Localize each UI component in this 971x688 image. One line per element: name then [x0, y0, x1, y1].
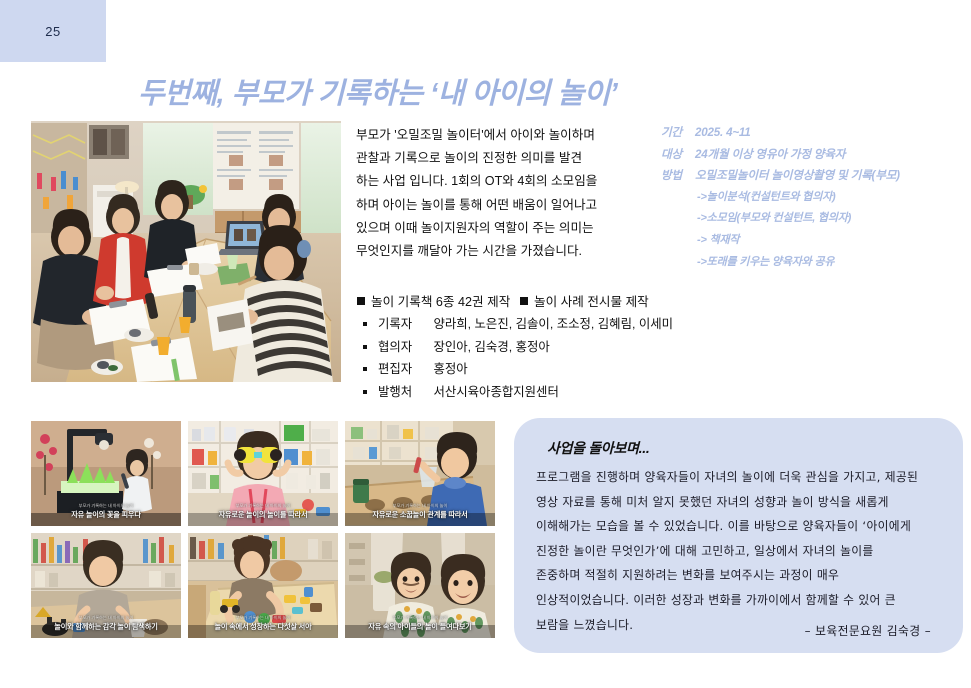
photo-caption-text-2: 자유로운 놀이의 놀이를 따라서 [219, 510, 308, 519]
page-title: 두번째, 부모가 기록하는 ‘내 아이의 놀이’ [138, 70, 838, 110]
photo-cell-2: 부모가 기록하는 내 아이의 놀이 자유로운 놀이의 놀이를 따라서 [188, 421, 338, 526]
info-label-target: 대상 [661, 144, 692, 166]
photo-caption-1: 부모가 기록하는 내 아이의 놀이 자유 놀이의 꽃을 피우다 [31, 503, 181, 520]
info-row-target: 대상 24개월 이상 영유아 가정 양육자 [661, 144, 966, 166]
photo-caption-5: 부모가 기록하는 내 아이의 놀이 놀이 속에서 성장하는 다섯살 서아 [188, 615, 338, 632]
page-number-badge: 25 [0, 0, 106, 62]
bullet-icon [363, 345, 367, 349]
photo-caption-tiny-5: 부모가 기록하는 내 아이의 놀이 [188, 615, 338, 621]
intro-line: 부모가 '오밀조밀 놀이터'에서 아이와 놀이하며 [356, 124, 651, 147]
photo-caption-tiny-6: 부모가 기록하는 내 아이의 놀이 [345, 615, 495, 621]
credit-names: 서산시육아종합지원센터 [433, 385, 558, 399]
photo-caption-text-3: 자유로운 소꿉놀이 관계를 따라서 [372, 510, 467, 519]
intro-paragraph: 부모가 '오밀조밀 놀이터'에서 아이와 놀이하며 관찰과 기록으로 놀이의 진… [356, 124, 651, 263]
section-headers: 놀이 기록책 6종 42권 제작 놀이 사례 전시물 제작 [357, 291, 787, 309]
photo-caption-text-6: 자유 속의 아이들의 놀이 들여다보기 [368, 622, 471, 631]
intro-line: 하는 사업 입니다. 1회의 OT와 4회의 소모임을 [356, 170, 651, 193]
list-item: 기록자 양라희, 노은진, 김솔이, 조소정, 김혜림, 이세미 [360, 313, 780, 336]
info-step: ->소모임(부모와 컨설턴트, 협의자) [661, 208, 966, 230]
info-step: ->또래를 키우는 양육자와 공유 [661, 252, 966, 274]
photo-caption-2: 부모가 기록하는 내 아이의 놀이 자유로운 놀이의 놀이를 따라서 [188, 503, 338, 520]
photo-cell-1: 부모가 기록하는 내 아이의 놀이 자유 놀이의 꽃을 피우다 [31, 421, 181, 526]
info-value-target: 24개월 이상 영유아 가정 양육자 [695, 148, 845, 161]
info-label-method: 방법 [661, 165, 692, 187]
intro-line: 있으며 이때 놀이지원자의 역할이 주는 의미는 [356, 217, 651, 240]
square-bullet-icon [357, 297, 365, 305]
photo-cell-6: 부모가 기록하는 내 아이의 놀이 자유 속의 아이들의 놀이 들여다보기 [345, 533, 495, 638]
reflection-line: 프로그램을 진행하며 양육자들이 자녀의 놀이에 더욱 관심을 가지고, 제공된 [536, 465, 941, 490]
section-header-left-label: 놀이 기록책 6종 42권 제작 [371, 295, 510, 309]
info-step: -> 책재작 [661, 230, 966, 252]
photo-caption-tiny-1: 부모가 기록하는 내 아이의 놀이 [31, 503, 181, 509]
photo-caption-text-1: 자유 놀이의 꽃을 피우다 [71, 510, 141, 519]
reflection-line: 진정한 놀이란 무엇인가’에 대해 고민하고, 일상에서 자녀의 놀이를 [536, 539, 941, 564]
reflection-line: 영상 자료를 통해 미처 알지 못했던 자녀의 성향과 놀이 방식을 새롭게 [536, 490, 941, 515]
reflection-line: 존중하며 적절히 지원하려는 변화를 보여주시는 과정이 매우 [536, 563, 941, 588]
bullet-icon [363, 390, 367, 394]
list-item: 협의자 장인아, 김숙경, 홍정아 [360, 336, 780, 359]
credits-list: 기록자 양라희, 노은진, 김솔이, 조소정, 김혜림, 이세미 협의자 장인아… [360, 313, 780, 403]
info-value-period: 2025. 4~11 [695, 126, 751, 139]
reflection-box: 사업을 돌아보며... 프로그램을 진행하며 양육자들이 자녀의 놀이에 더욱 … [514, 418, 963, 653]
intro-line: 무엇인지를 깨달아 가는 시간을 가졌습니다. [356, 240, 651, 263]
intro-line: 관찰과 기록으로 놀이의 진정한 의미를 발견 [356, 147, 651, 170]
photo-caption-6: 부모가 기록하는 내 아이의 놀이 자유 속의 아이들의 놀이 들여다보기 [345, 615, 495, 632]
photo-caption-tiny-4: 부모가 기록하는 내 아이의 놀이 [31, 615, 181, 621]
info-step: ->놀이분석(컨설턴트와 협의자) [661, 187, 966, 209]
section-header-record-book: 놀이 기록책 6종 42권 제작 [357, 291, 510, 310]
photo-caption-text-4: 놀이와 함께하는 감각 놀이 탐색하기 [54, 622, 157, 631]
reflection-body: 프로그램을 진행하며 양육자들이 자녀의 놀이에 더욱 관심을 가지고, 제공된… [536, 465, 941, 637]
main-photo-meeting [31, 121, 341, 382]
credit-role: 편집자 [378, 358, 430, 381]
credit-role: 발행처 [378, 381, 430, 404]
reflection-line: 이해해가는 모습을 볼 수 있었습니다. 이를 바탕으로 양육자들이 ‘아이에게 [536, 514, 941, 539]
square-bullet-icon [520, 297, 528, 305]
credit-role: 기록자 [378, 313, 430, 336]
reflection-heading: 사업을 돌아보며... [547, 438, 649, 458]
info-row-period: 기간 2025. 4~11 [661, 122, 966, 144]
photo-cell-4: 부모가 기록하는 내 아이의 놀이 놀이와 함께하는 감각 놀이 탐색하기 [31, 533, 181, 638]
intro-line: 하며 아이는 놀이를 통해 어떤 배움이 일어나고 [356, 194, 651, 217]
program-info-block: 기간 2025. 4~11 대상 24개월 이상 영유아 가정 양육자 방법 오… [661, 122, 966, 273]
credit-role: 협의자 [378, 336, 430, 359]
photo-cell-5: 부모가 기록하는 내 아이의 놀이 놀이 속에서 성장하는 다섯살 서아 [188, 533, 338, 638]
credit-names: 장인아, 김숙경, 홍정아 [433, 340, 549, 354]
reflection-line: 인상적이었습니다. 이러한 성장과 변화를 가까이에서 함께할 수 있어 큰 [536, 588, 941, 613]
list-item: 편집자 홍정아 [360, 358, 780, 381]
info-label-period: 기간 [661, 122, 692, 144]
photo-cell-3: 부모가 기록하는 내 아이의 놀이 자유로운 소꿉놀이 관계를 따라서 [345, 421, 495, 526]
photo-caption-3: 부모가 기록하는 내 아이의 놀이 자유로운 소꿉놀이 관계를 따라서 [345, 503, 495, 520]
photo-grid: 부모가 기록하는 내 아이의 놀이 자유 놀이의 꽃을 피우다 [31, 421, 495, 648]
photo-caption-text-5: 놀이 속에서 성장하는 다섯살 서아 [215, 622, 312, 631]
page-number: 25 [45, 24, 60, 39]
reflection-signature: – 보육전문요원 김숙경 – [805, 622, 931, 639]
section-header-right-label: 놀이 사례 전시물 제작 [534, 295, 649, 309]
info-value-method: 오밀조밀놀이터 놀이영상촬영 및 기록(부모) [695, 169, 900, 182]
photo-caption-tiny-2: 부모가 기록하는 내 아이의 놀이 [188, 503, 338, 509]
photo-caption-4: 부모가 기록하는 내 아이의 놀이 놀이와 함께하는 감각 놀이 탐색하기 [31, 615, 181, 632]
info-row-method: 방법 오밀조밀놀이터 놀이영상촬영 및 기록(부모) [661, 165, 966, 187]
section-header-exhibit: 놀이 사례 전시물 제작 [520, 291, 649, 310]
bullet-icon [363, 322, 367, 326]
credit-names: 양라희, 노은진, 김솔이, 조소정, 김혜림, 이세미 [433, 317, 673, 331]
list-item: 발행처 서산시육아종합지원센터 [360, 381, 780, 404]
main-photo-illustration [31, 121, 341, 382]
credit-names: 홍정아 [433, 362, 467, 376]
photo-caption-tiny-3: 부모가 기록하는 내 아이의 놀이 [345, 503, 495, 509]
bullet-icon [363, 367, 367, 371]
